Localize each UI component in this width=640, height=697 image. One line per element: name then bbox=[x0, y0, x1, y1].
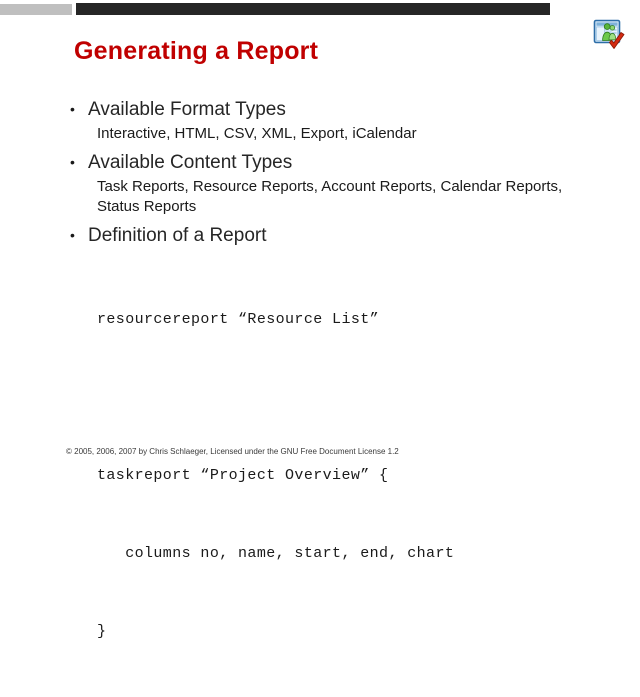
code-line-1: resourcereport “Resource List” bbox=[97, 307, 606, 333]
code-line-blank bbox=[97, 385, 606, 411]
bullet-detail-format-types: Interactive, HTML, CSV, XML, Export, iCa… bbox=[97, 124, 597, 144]
code-sample: resourcereport “Resource List” taskrepor… bbox=[97, 255, 606, 697]
bullet-marker-icon: • bbox=[66, 222, 88, 249]
bullet-heading: Available Format Types bbox=[88, 96, 286, 123]
slide-body: • Available Format Types Interactive, HT… bbox=[66, 96, 606, 697]
bullet-detail-content-types: Task Reports, Resource Reports, Account … bbox=[97, 177, 597, 217]
top-accent-bar-gray bbox=[0, 4, 72, 15]
bullet-item-report-definition: • Definition of a Report bbox=[66, 222, 606, 249]
bullet-marker-icon: • bbox=[66, 149, 88, 176]
code-line-4: columns no, name, start, end, chart bbox=[97, 541, 606, 567]
code-line-3: taskreport “Project Overview” { bbox=[97, 463, 606, 489]
bullet-heading: Definition of a Report bbox=[88, 222, 267, 249]
bullet-item-content-types: • Available Content Types bbox=[66, 149, 606, 176]
top-accent-bar-dark bbox=[76, 3, 550, 15]
bullet-marker-icon: • bbox=[66, 96, 88, 123]
bullet-item-format-types: • Available Format Types bbox=[66, 96, 606, 123]
code-line-5: } bbox=[97, 619, 606, 645]
page-title: Generating a Report bbox=[74, 37, 318, 66]
bullet-heading: Available Content Types bbox=[88, 149, 292, 176]
footer-copyright: © 2005, 2006, 2007 by Chris Schlaeger, L… bbox=[66, 446, 399, 457]
report-document-check-icon bbox=[592, 18, 626, 52]
